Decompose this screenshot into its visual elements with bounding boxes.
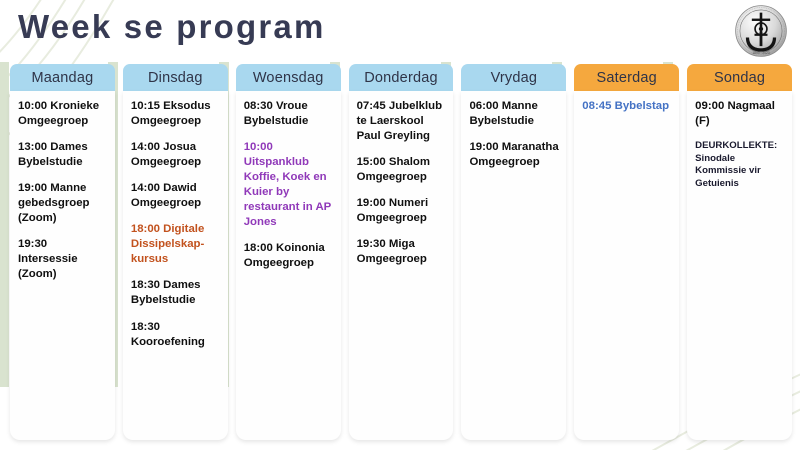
page-title: Week se program: [18, 8, 326, 46]
day-header-vrydag[interactable]: Vrydag: [461, 64, 566, 91]
event-item[interactable]: 08:30 Vroue Bybelstudie: [244, 99, 335, 129]
svg-text:1893 - 2023: 1893 - 2023: [752, 51, 769, 55]
day-header-dinsdag[interactable]: Dinsdag: [123, 64, 228, 91]
event-item[interactable]: 15:00 Shalom Omgeegroep: [357, 155, 448, 185]
event-item[interactable]: 14:00 Dawid Omgeegroep: [131, 181, 222, 211]
event-item[interactable]: 10:15 Eksodus Omgeegroep: [131, 99, 222, 129]
event-item[interactable]: 19:00 Maranatha Omgeegroep: [469, 140, 560, 170]
event-item[interactable]: 19:30 Intersessie (Zoom): [18, 237, 109, 282]
day-header-donderdag[interactable]: Donderdag: [349, 64, 454, 91]
day-events-sondag: 09:00 Nagmaal (F)DEURKOLLEKTE: Sinodale …: [687, 91, 792, 440]
event-item[interactable]: 06:00 Manne Bybelstudie: [469, 99, 560, 129]
day-events-woensdag: 08:30 Vroue Bybelstudie10:00 Uitspanklub…: [236, 91, 341, 440]
event-item[interactable]: 14:00 Josua Omgeegroep: [131, 140, 222, 170]
day-events-donderdag: 07:45 Jubelklub te Laerskool Paul Greyli…: [349, 91, 454, 440]
day-column-vrydag: Vrydag06:00 Manne Bybelstudie19:00 Maran…: [461, 64, 566, 440]
day-header-sondag[interactable]: Sondag: [687, 64, 792, 91]
day-header-woensdag[interactable]: Woensdag: [236, 64, 341, 91]
slide-canvas: Week se program 1893 - 2023 Maandag10:00…: [0, 0, 800, 450]
day-events-maandag: 10:00 Kronieke Omgeegroep13:00 Dames Byb…: [10, 91, 115, 440]
event-item[interactable]: 18:00 Koinonia Omgeegroep: [244, 241, 335, 271]
day-column-saterdag: Saterdag08:45 Bybelstap: [574, 64, 679, 440]
event-item[interactable]: 19:00 Numeri Omgeegroep: [357, 196, 448, 226]
event-item[interactable]: 13:00 Dames Bybelstudie: [18, 140, 109, 170]
day-column-dinsdag: Dinsdag10:15 Eksodus Omgeegroep14:00 Jos…: [123, 64, 228, 440]
event-item[interactable]: 10:00 Uitspanklub Koffie, Koek en Kuier …: [244, 140, 335, 230]
event-item[interactable]: DEURKOLLEKTE: Sinodale Kommissie vir Get…: [695, 140, 786, 190]
event-item[interactable]: 18:00 Digitale Dissipelskap-kursus: [131, 222, 222, 267]
church-seal-logo-icon: 1893 - 2023: [734, 4, 788, 58]
day-header-maandag[interactable]: Maandag: [10, 64, 115, 91]
event-item[interactable]: 10:00 Kronieke Omgeegroep: [18, 99, 109, 129]
event-item[interactable]: 18:30 Kooroefening: [131, 320, 222, 350]
event-item[interactable]: 07:45 Jubelklub te Laerskool Paul Greyli…: [357, 99, 448, 144]
day-events-vrydag: 06:00 Manne Bybelstudie19:00 Maranatha O…: [461, 91, 566, 440]
day-column-maandag: Maandag10:00 Kronieke Omgeegroep13:00 Da…: [10, 64, 115, 440]
event-item[interactable]: 19:30 Miga Omgeegroep: [357, 237, 448, 267]
event-item[interactable]: 08:45 Bybelstap: [582, 99, 673, 114]
event-item[interactable]: 09:00 Nagmaal (F): [695, 99, 786, 129]
event-item[interactable]: 19:00 Manne gebedsgroep (Zoom): [18, 181, 109, 226]
day-column-sondag: Sondag09:00 Nagmaal (F)DEURKOLLEKTE: Sin…: [687, 64, 792, 440]
day-events-dinsdag: 10:15 Eksodus Omgeegroep14:00 Josua Omge…: [123, 91, 228, 440]
day-header-saterdag[interactable]: Saterdag: [574, 64, 679, 91]
event-item[interactable]: 18:30 Dames Bybelstudie: [131, 278, 222, 308]
week-schedule-grid: Maandag10:00 Kronieke Omgeegroep13:00 Da…: [10, 64, 792, 440]
day-column-woensdag: Woensdag08:30 Vroue Bybelstudie10:00 Uit…: [236, 64, 341, 440]
day-events-saterdag: 08:45 Bybelstap: [574, 91, 679, 440]
day-column-donderdag: Donderdag07:45 Jubelklub te Laerskool Pa…: [349, 64, 454, 440]
